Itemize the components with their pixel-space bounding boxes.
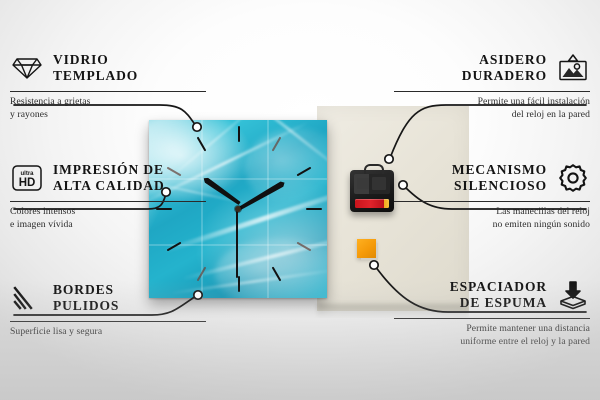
feature-desc-line2: del reloj en la pared <box>394 109 590 122</box>
feature-desc-line2: e imagen vívida <box>10 219 206 232</box>
feature-header: MECANISMO SILENCIOSO <box>394 158 590 198</box>
second-hand <box>236 208 238 278</box>
feature-desc-line1: Permite mantener una distancia <box>466 323 590 334</box>
feature-title-line2: ALTA CALIDAD <box>53 178 165 194</box>
hour-marker <box>238 276 240 292</box>
ultra-hd-icon: ultra HD <box>10 161 44 195</box>
feature-description: Permite una fácil instalación del reloj … <box>394 96 590 122</box>
feature-description: Superficie lisa y segura <box>10 326 206 339</box>
feature-header: ultra HD IMPRESIÓN DE ALTA CALIDAD <box>10 158 206 198</box>
hour-marker <box>238 126 240 142</box>
feature-title-line2: DURADERO <box>462 68 547 84</box>
clock-mechanism <box>350 170 394 212</box>
feature-title-line1: IMPRESIÓN DE <box>53 162 164 177</box>
feature-desc-line1: Permite una fácil instalación <box>478 96 590 107</box>
feature-title-line1: ASIDERO <box>479 52 547 67</box>
feature-header: BORDES PULIDOS <box>10 278 206 318</box>
feature-title-line1: VIDRIO <box>53 52 109 67</box>
center-pin <box>235 206 241 212</box>
feature-espaciador-de-espuma[interactable]: ESPACIADOR DE ESPUMA Permite mantener un… <box>394 275 590 349</box>
picture-frame-hanger-icon <box>556 51 590 85</box>
battery <box>355 199 389 208</box>
feature-title: IMPRESIÓN DE ALTA CALIDAD <box>53 162 165 194</box>
feature-title-line2: DE ESPUMA <box>450 295 547 311</box>
feature-title-line1: ESPACIADOR <box>450 279 547 294</box>
feature-title: ASIDERO DURADERO <box>462 52 547 84</box>
feature-divider <box>394 318 590 319</box>
feature-desc-line2: y rayones <box>10 109 206 122</box>
feature-desc-line1: Colores intensos <box>10 206 75 217</box>
ultra-hd-icon-main: HD <box>19 177 36 189</box>
infographic-canvas: VIDRIO TEMPLADO Resistencia a grietas y … <box>0 0 600 400</box>
feature-title-line2: PULIDOS <box>53 298 119 314</box>
diamond-icon <box>10 51 44 85</box>
gear-icon <box>556 161 590 195</box>
mechanism-face <box>354 174 390 194</box>
feature-header: ASIDERO DURADERO <box>394 48 590 88</box>
feature-title-line1: MECANISMO <box>452 162 547 177</box>
press-down-pad-icon <box>556 278 590 312</box>
feature-desc-line1: Superficie lisa y segura <box>10 326 102 337</box>
feature-desc-line1: Las manecillas del reloj <box>496 206 590 217</box>
feature-mecanismo-silencioso[interactable]: MECANISMO SILENCIOSO Las manecillas del … <box>394 158 590 232</box>
feature-description: Colores intensos e imagen vívida <box>10 206 206 232</box>
feature-divider <box>10 91 206 92</box>
foam-spacer <box>357 239 376 258</box>
feature-description: Las manecillas del reloj no emiten ningú… <box>394 206 590 232</box>
feature-divider <box>10 201 206 202</box>
feature-impresion-alta-calidad[interactable]: ultra HD IMPRESIÓN DE ALTA CALIDAD Color… <box>10 158 206 232</box>
feature-description: Resistencia a grietas y rayones <box>10 96 206 122</box>
hour-marker <box>306 208 322 210</box>
feature-header: VIDRIO TEMPLADO <box>10 48 206 88</box>
feature-title-line1: BORDES <box>53 282 114 297</box>
polished-edges-icon <box>10 281 44 315</box>
feature-divider <box>394 201 590 202</box>
feature-title: MECANISMO SILENCIOSO <box>452 162 547 194</box>
feature-header: ESPACIADOR DE ESPUMA <box>394 275 590 315</box>
feature-desc-line1: Resistencia a grietas <box>10 96 90 107</box>
feature-title: BORDES PULIDOS <box>53 282 119 314</box>
feature-desc-line2: uniforme entre el reloj y la pared <box>394 336 590 349</box>
mechanism-hook <box>364 164 384 174</box>
feature-vidrio-templado[interactable]: VIDRIO TEMPLADO Resistencia a grietas y … <box>10 48 206 122</box>
feature-title-line2: TEMPLADO <box>53 68 138 84</box>
feature-divider <box>394 91 590 92</box>
feature-title: ESPACIADOR DE ESPUMA <box>450 279 547 311</box>
feature-desc-line2: no emiten ningún sonido <box>394 219 590 232</box>
glass-grid-line <box>267 120 269 298</box>
feature-title: VIDRIO TEMPLADO <box>53 52 138 84</box>
feature-asidero-duradero[interactable]: ASIDERO DURADERO Permite una fácil insta… <box>394 48 590 122</box>
feature-title-line2: SILENCIOSO <box>452 178 547 194</box>
feature-divider <box>10 321 206 322</box>
feature-description: Permite mantener una distancia uniforme … <box>394 323 590 349</box>
feature-bordes-pulidos[interactable]: BORDES PULIDOS Superficie lisa y segura <box>10 278 206 339</box>
